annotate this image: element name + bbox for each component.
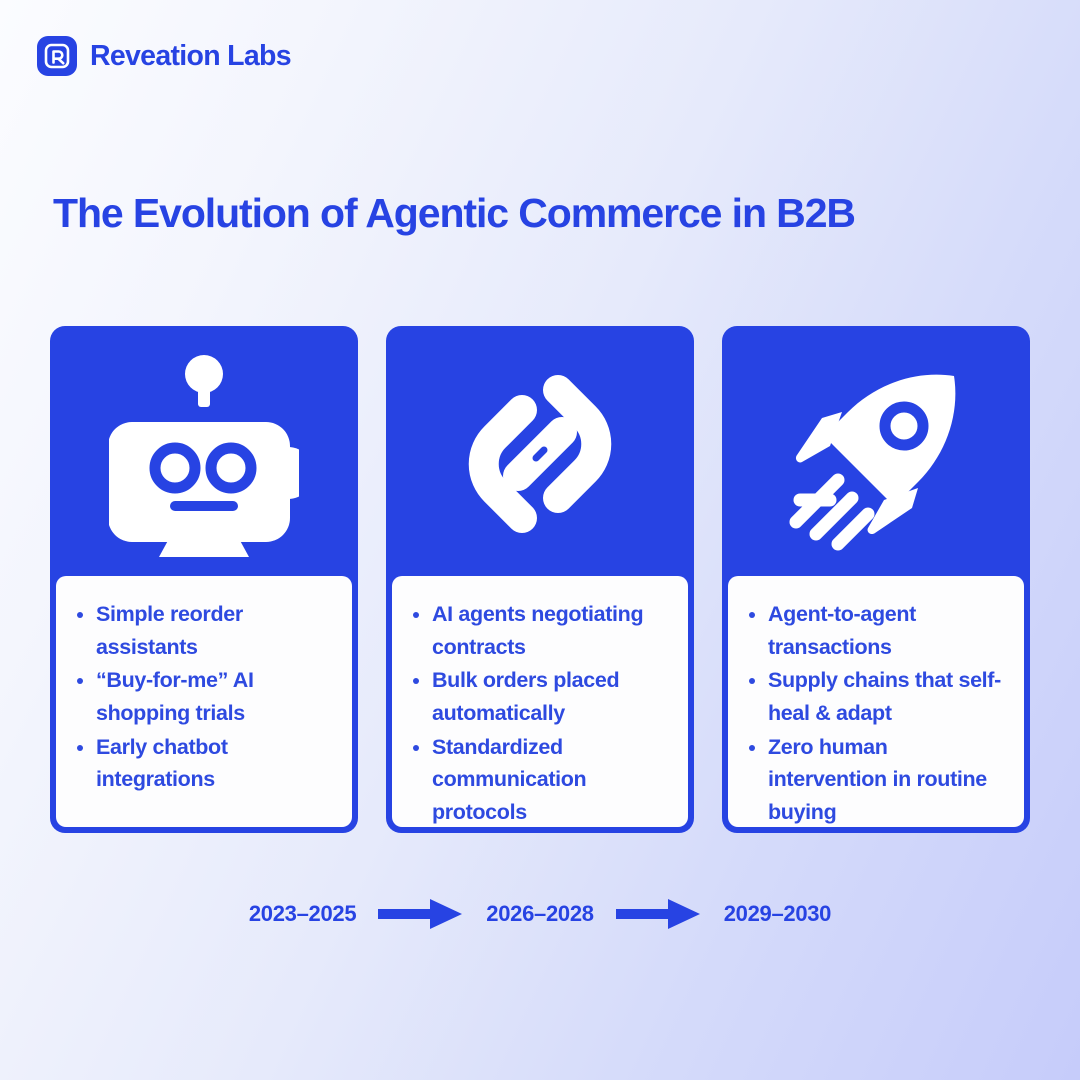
timeline-label-3: 2029–2030 bbox=[724, 901, 831, 927]
timeline-cards: Simple reorder assistants “Buy-for-me” A… bbox=[50, 326, 1030, 833]
list-item: “Buy-for-me” AI shopping trials bbox=[70, 664, 336, 729]
list-item: Supply chains that self-heal & adapt bbox=[742, 664, 1008, 729]
stage-card-2-bullets: AI agents negotiating contracts Bulk ord… bbox=[406, 598, 672, 827]
brand-name: Reveation Labs bbox=[90, 40, 291, 73]
stage-card-3-panel: Agent-to-agent transactions Supply chain… bbox=[728, 576, 1024, 827]
list-item: Simple reorder assistants bbox=[70, 598, 336, 663]
timeline-label-1: 2023–2025 bbox=[249, 901, 356, 927]
stage-card-2-panel: AI agents negotiating contracts Bulk ord… bbox=[392, 576, 688, 827]
list-item: Zero human intervention in routine buyin… bbox=[742, 731, 1008, 827]
list-item: Bulk orders placed automatically bbox=[406, 664, 672, 729]
list-item: Standardized communication protocols bbox=[406, 731, 672, 827]
stage-card-1-panel: Simple reorder assistants “Buy-for-me” A… bbox=[56, 576, 352, 827]
arrow-right-icon bbox=[378, 897, 464, 931]
chain-link-icon bbox=[392, 332, 688, 576]
stage-card-1: Simple reorder assistants “Buy-for-me” A… bbox=[50, 326, 358, 833]
arrow-right-icon bbox=[616, 897, 702, 931]
stage-card-3-bullets: Agent-to-agent transactions Supply chain… bbox=[742, 598, 1008, 827]
page-title: The Evolution of Agentic Commerce in B2B bbox=[53, 190, 855, 237]
list-item: Early chatbot integrations bbox=[70, 731, 336, 796]
rocket-icon bbox=[728, 332, 1024, 576]
timeline-label-2: 2026–2028 bbox=[486, 901, 593, 927]
robot-icon bbox=[56, 332, 352, 576]
timeline-row: 2023–2025 2026–2028 2029–2030 bbox=[0, 897, 1080, 931]
list-item: AI agents negotiating contracts bbox=[406, 598, 672, 663]
stage-card-1-bullets: Simple reorder assistants “Buy-for-me” A… bbox=[70, 598, 336, 796]
brand-logo: Reveation Labs bbox=[37, 36, 291, 76]
stage-card-3: Agent-to-agent transactions Supply chain… bbox=[722, 326, 1030, 833]
reveation-r-logo-icon bbox=[37, 36, 77, 76]
list-item: Agent-to-agent transactions bbox=[742, 598, 1008, 663]
stage-card-2: AI agents negotiating contracts Bulk ord… bbox=[386, 326, 694, 833]
